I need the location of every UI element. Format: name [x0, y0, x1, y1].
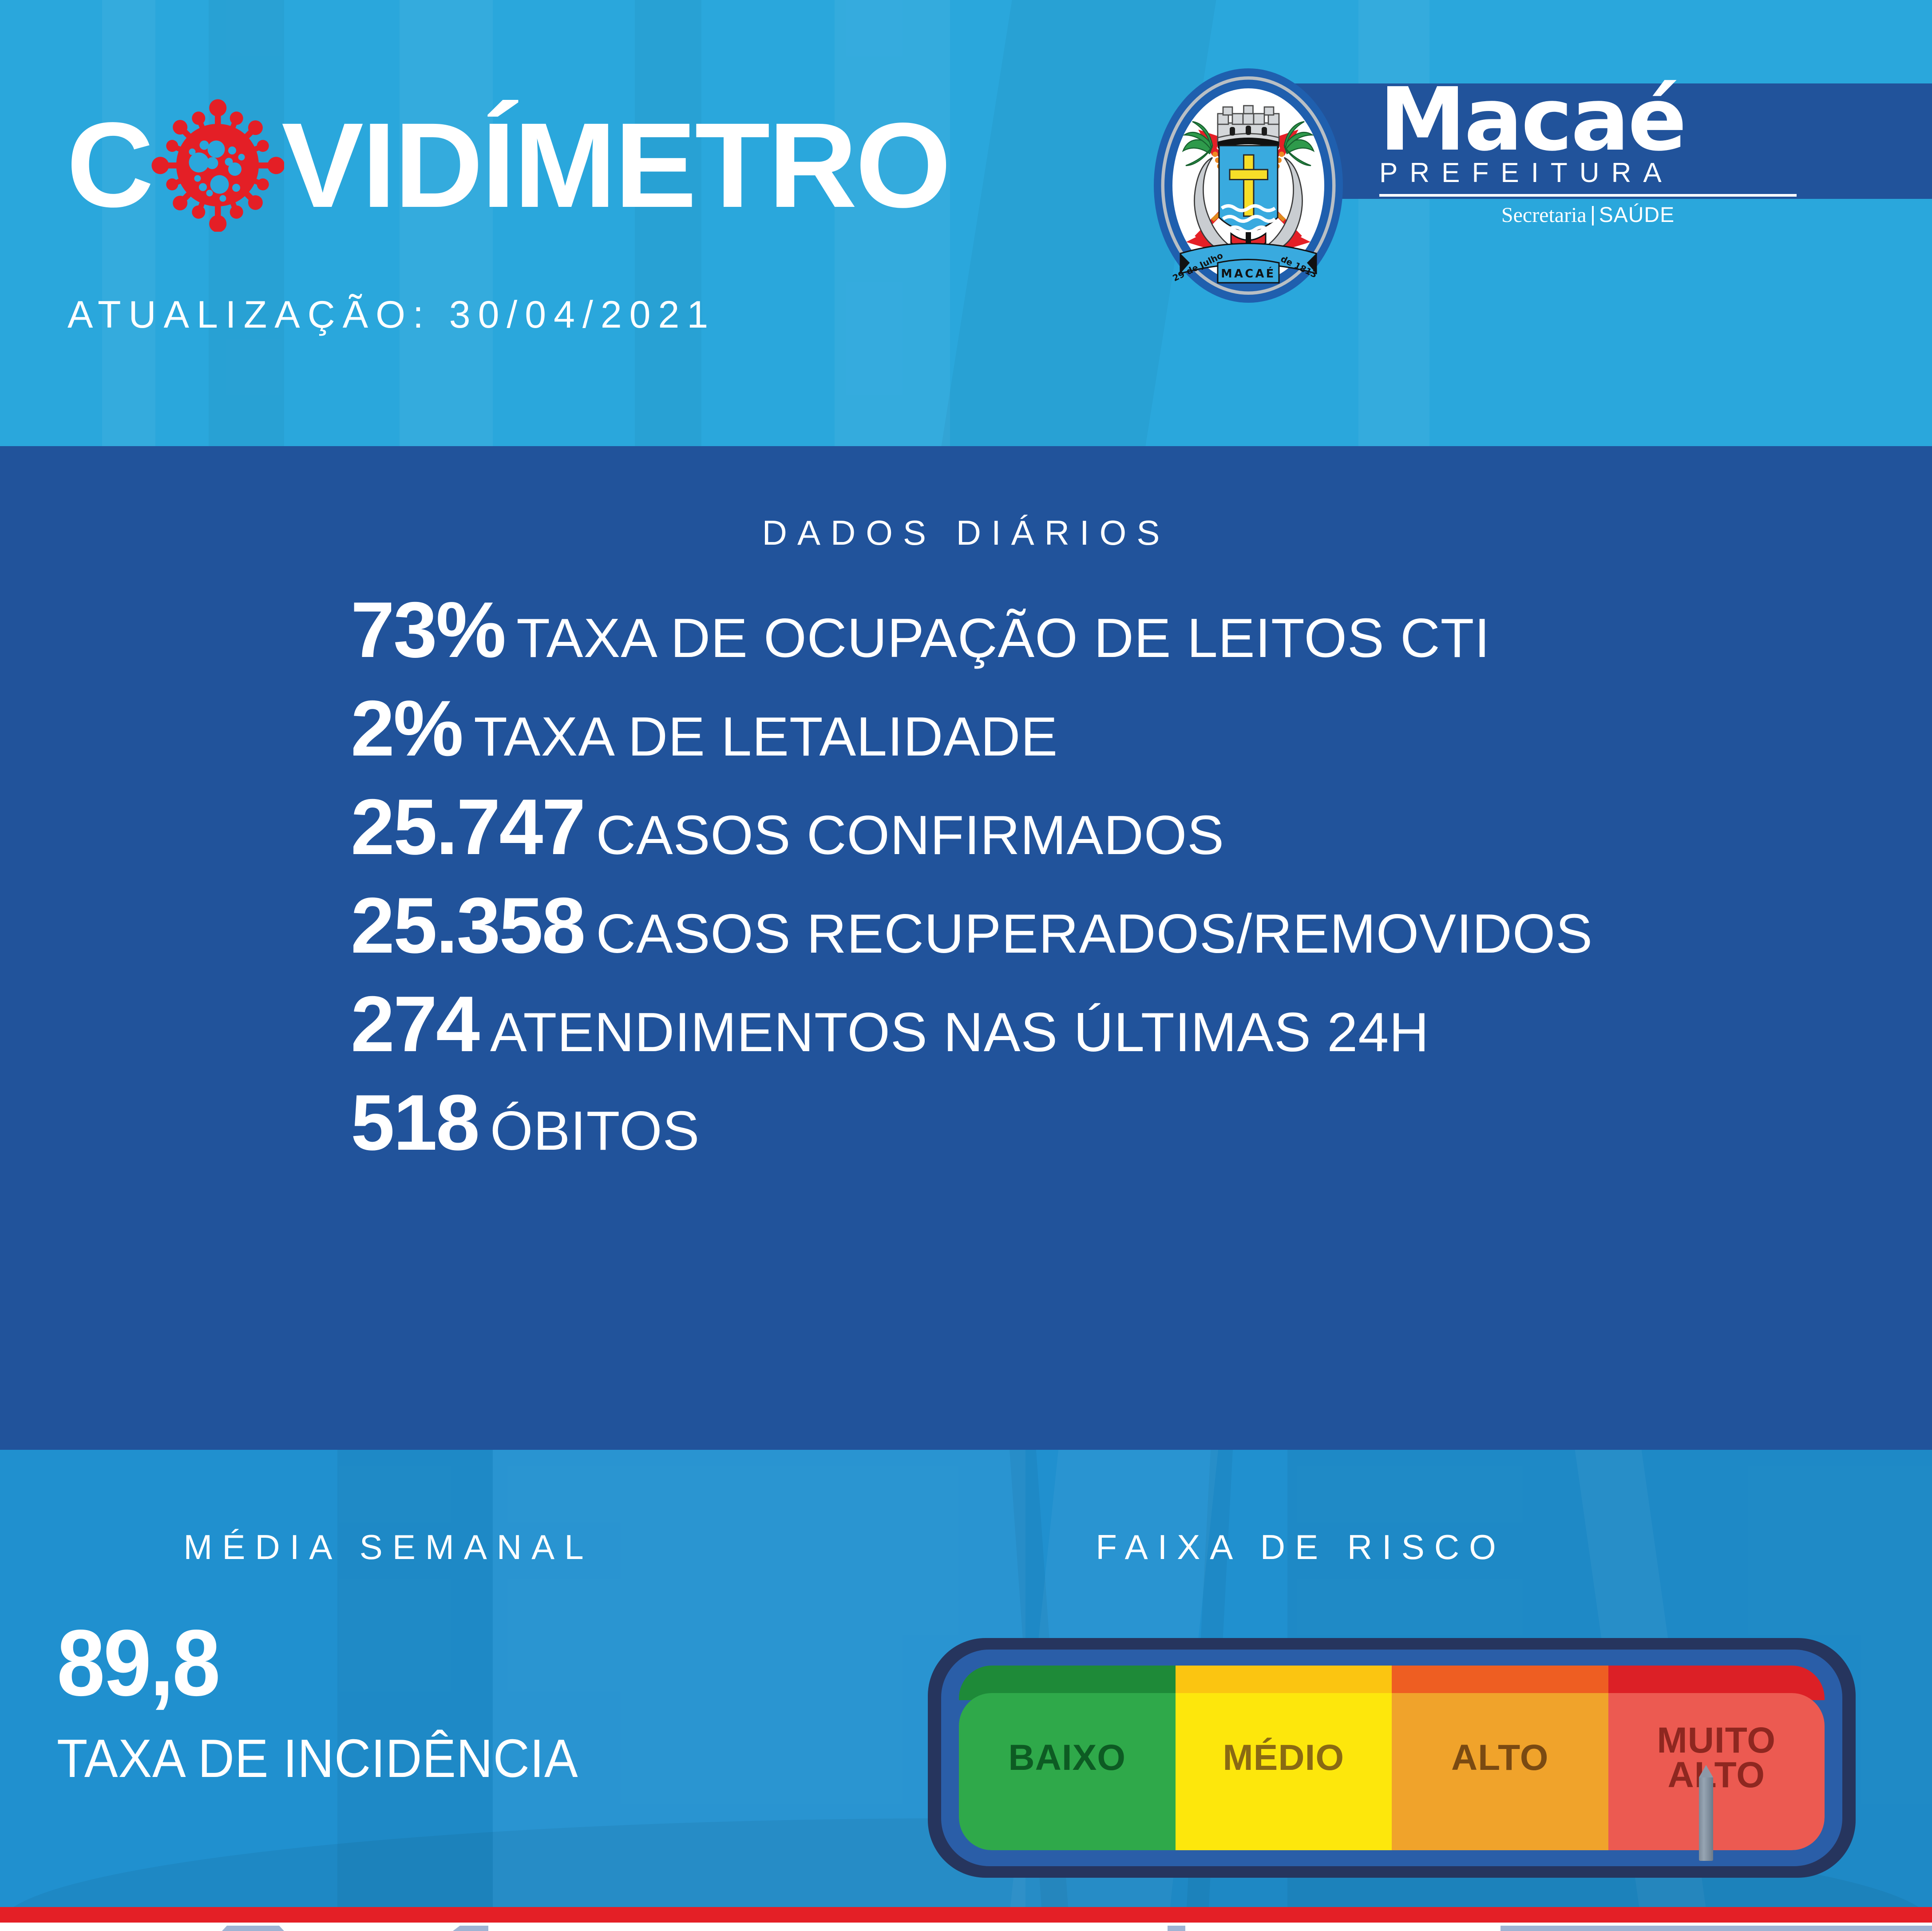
daily-row: 73% TAXA DE OCUPAÇÃO DE LEITOS CTI — [351, 590, 1771, 666]
coronavirus-icon — [151, 99, 284, 232]
daily-label: ÓBITOS — [490, 1100, 700, 1162]
daily-value: 25.747 — [351, 783, 584, 871]
weekly-incidence-label: TAXA DE INCIDÊNCIA — [57, 1731, 578, 1785]
logo-saude-label: SAÚDE — [1599, 203, 1675, 227]
bottom-chip — [222, 1926, 284, 1931]
bottom-chip — [453, 1926, 488, 1931]
daily-value: 274 — [351, 980, 479, 1068]
risk-segment-alto[interactable]: ALTO — [1392, 1666, 1608, 1850]
header-band: C C — [0, 0, 1932, 446]
risk-gauge-track: BAIXO MÉDIO ALTO MUITO ALTO — [959, 1666, 1825, 1850]
daily-label: CASOS RECUPERADOS/REMOVIDOS — [596, 903, 1593, 965]
daily-row: 25.358 CASOS RECUPERADOS/REMOVIDOS — [351, 886, 1771, 962]
risk-segment-medio[interactable]: MÉDIO — [1176, 1666, 1392, 1850]
update-date-label: ATUALIZAÇÃO: 30/04/2021 — [67, 293, 716, 337]
risk-section-title: FAIXA DE RISCO — [968, 1527, 1634, 1567]
logo-separator — [1592, 206, 1594, 226]
logo-prefeitura-label: PREFEITURA — [1379, 157, 1823, 189]
daily-label: ATENDIMENTOS NAS ÚLTIMAS 24H — [490, 1002, 1429, 1063]
title-rest: VIDÍMETRO — [281, 105, 950, 226]
daily-section-title: DADOS DIÁRIOS — [0, 513, 1932, 553]
daily-row: 518 ÓBITOS — [351, 1083, 1771, 1159]
risk-level-label: MÉDIO — [1223, 1741, 1344, 1775]
gauge-needle-icon[interactable] — [1699, 1777, 1713, 1861]
logo-divider — [1379, 194, 1797, 197]
daily-rows: 73% TAXA DE OCUPAÇÃO DE LEITOS CTI 2% TA… — [351, 590, 1771, 1182]
bottom-chip — [1168, 1926, 1185, 1931]
svg-text:MACAÉ: MACAÉ — [1221, 267, 1275, 281]
risk-segment-baixo[interactable]: BAIXO — [959, 1666, 1176, 1850]
page-title: C C — [67, 95, 937, 234]
accent-red-strip — [0, 1907, 1932, 1923]
daily-label: CASOS CONFIRMADOS — [596, 805, 1224, 866]
logo-secretaria-line: SecretariaSAÚDE — [1379, 203, 1797, 227]
daily-label: TAXA DE OCUPAÇÃO DE LEITOS CTI — [516, 608, 1490, 669]
risk-level-label: ALTO — [1451, 1741, 1549, 1775]
daily-row: 2% TAXA DE LETALIDADE — [351, 689, 1771, 764]
bottom-chip — [1500, 1926, 1932, 1931]
macae-coat-of-arms-icon: MACAÉ 29 de Julho de 1813 — [1148, 66, 1348, 305]
daily-row: 274 ATENDIMENTOS NAS ÚLTIMAS 24H — [351, 985, 1771, 1060]
logo-wordmark: Macaé PREFEITURA SecretariaSAÚDE — [1379, 80, 1823, 227]
daily-value: 2% — [351, 684, 462, 772]
logo-secretaria-label: Secretaria — [1501, 203, 1587, 227]
macae-logo: MACAÉ 29 de Julho de 1813 Macaé PREFEITU… — [1148, 83, 1932, 199]
risk-level-label: MUITO ALTO — [1608, 1723, 1825, 1793]
bottom-white-strip — [0, 1923, 1932, 1931]
weekly-incidence-value: 89,8 — [57, 1616, 219, 1710]
weekly-section-title: MÉDIA SEMANAL — [71, 1527, 706, 1567]
daily-value: 73% — [351, 586, 505, 674]
risk-level-label: BAIXO — [1008, 1741, 1126, 1775]
logo-city-name: Macaé — [1379, 80, 1823, 160]
daily-row: 25.747 CASOS CONFIRMADOS — [351, 787, 1771, 863]
daily-label: TAXA DE LETALIDADE — [474, 706, 1058, 768]
daily-value: 25.358 — [351, 881, 584, 969]
risk-segment-muito-alto[interactable]: MUITO ALTO — [1608, 1666, 1825, 1850]
covidimetro-infographic: C C — [0, 0, 1932, 1931]
risk-gauge[interactable]: BAIXO MÉDIO ALTO MUITO ALTO — [928, 1638, 1856, 1878]
daily-value: 518 — [351, 1078, 479, 1167]
